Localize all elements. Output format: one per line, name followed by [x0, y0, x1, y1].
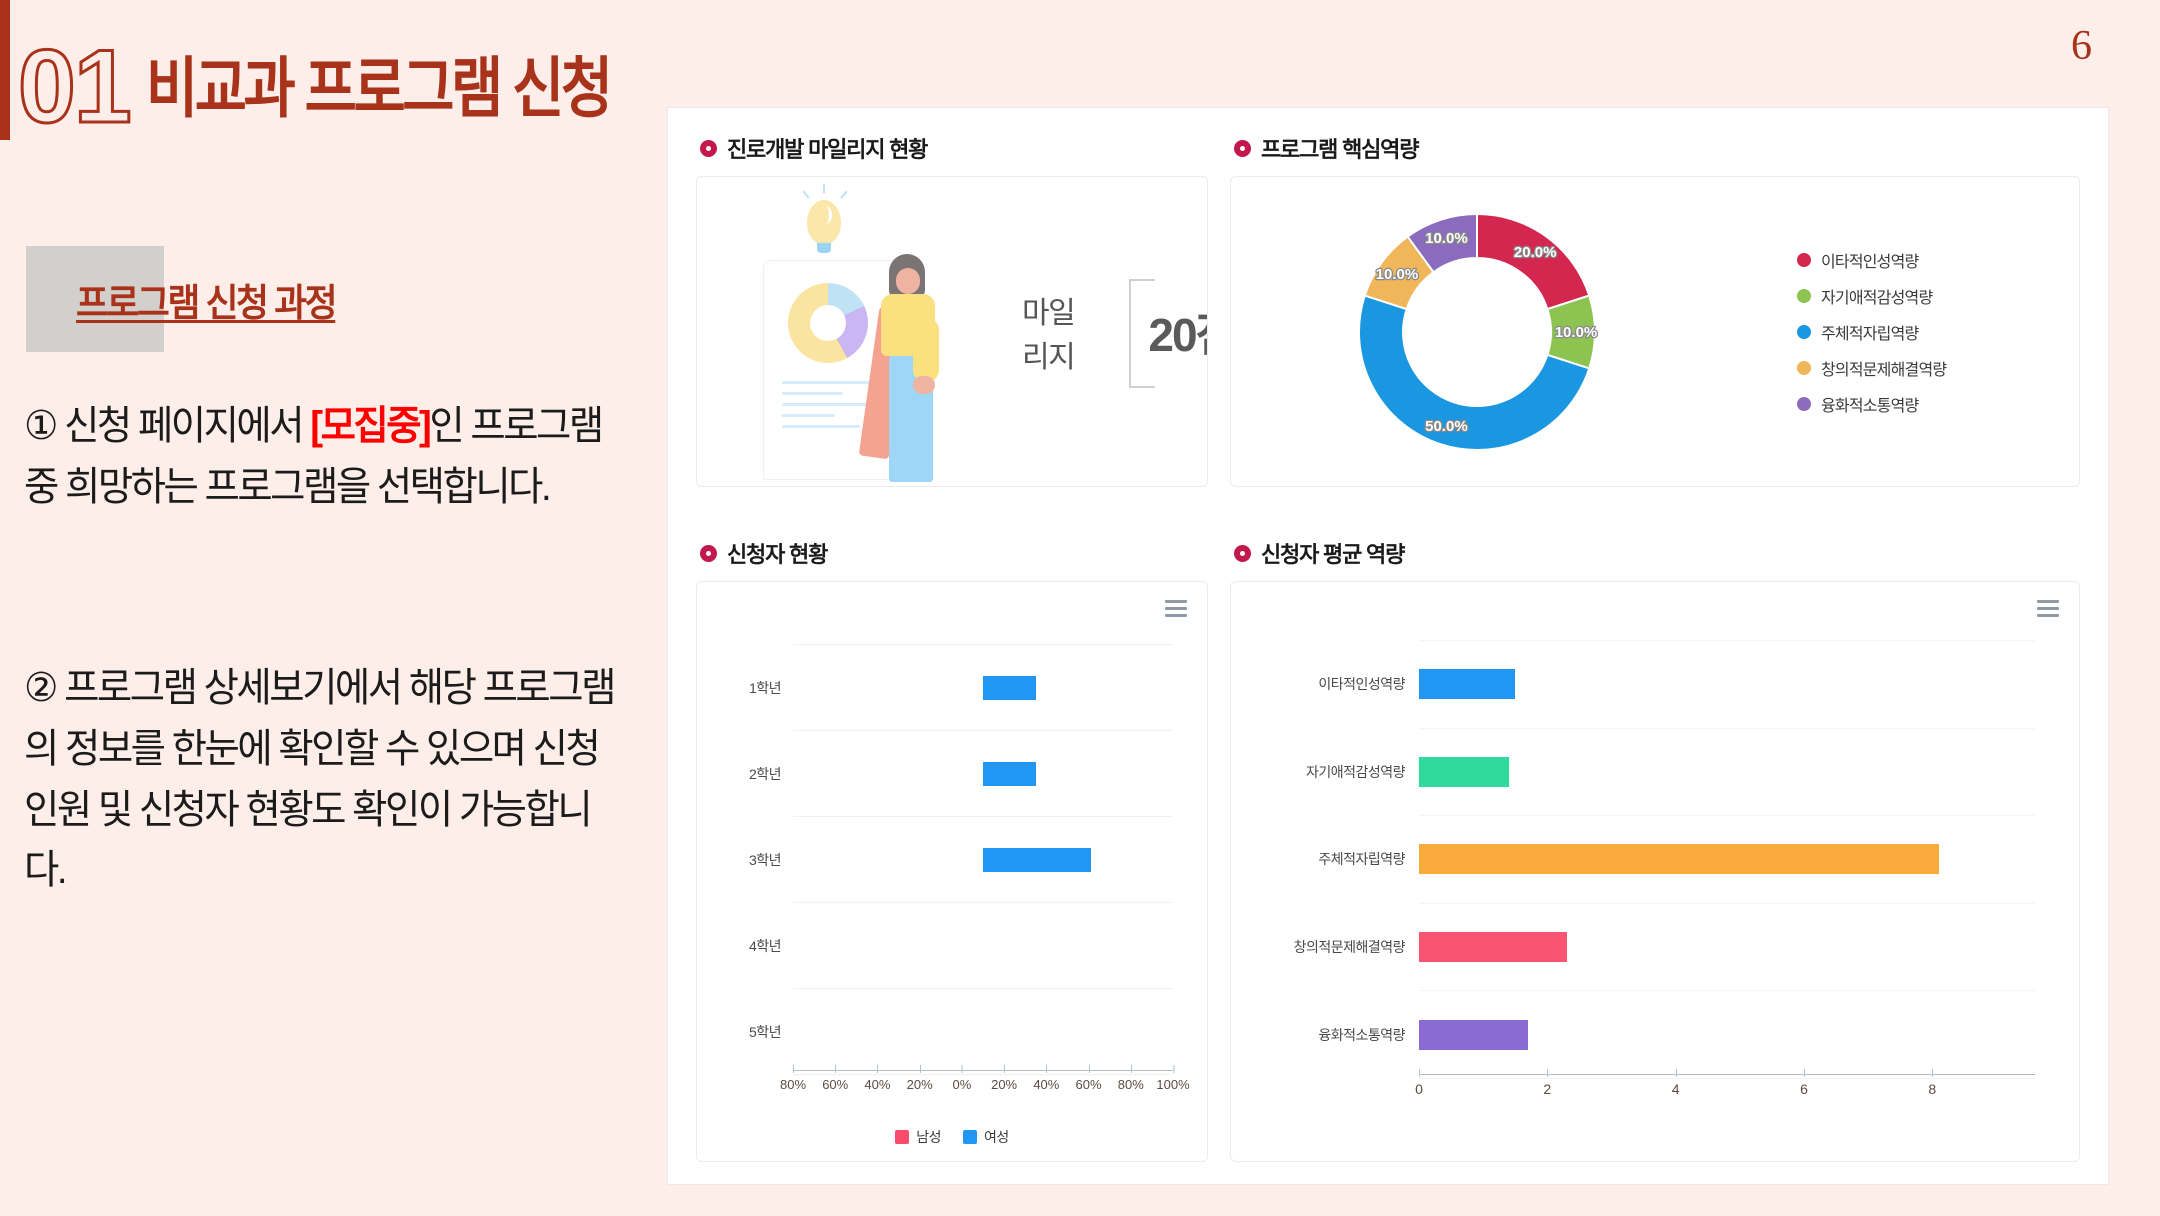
legend-item-label: 자기애적감성역량 — [1821, 284, 1932, 308]
record-dot-icon — [1234, 140, 1251, 157]
average-bar-2 — [1419, 844, 1939, 874]
average-y-label: 창의적문제해결역량 — [1294, 937, 1405, 957]
card-applicant-average-title: 신청자 평균 역량 — [1261, 537, 1404, 569]
card-applicant-status: 신청자 현황 1학년2학년3학년4학년5학년 80%60%40%20%0%20%… — [696, 537, 1208, 1162]
average-x-tick: 4 — [1672, 1081, 1680, 1097]
card-core-competency: 프로그램 핵심역량 20.0%10.0%50.0%10.0%10.0% 이타적인… — [1230, 132, 2080, 487]
tornado-bar-여성 — [983, 762, 1036, 786]
legend-item-2[interactable]: 주체적자립역량 — [1797, 320, 1946, 344]
tornado-legend-label: 남성 — [916, 1127, 941, 1147]
tornado-legend-item-1[interactable]: 여성 — [963, 1127, 1009, 1147]
dashboard-screenshot: 진로개발 마일리지 현황 — [668, 108, 2108, 1184]
card-mileage-title: 진로개발 마일리지 현황 — [727, 132, 927, 164]
average-row: 주체적자립역량 — [1419, 815, 2035, 903]
legend-item-label: 창의적문제해결역량 — [1821, 356, 1946, 380]
subheading-text: 프로그램 신청 과정 — [76, 272, 335, 327]
tornado-row: 1학년 — [793, 644, 1173, 730]
legend-color-dot-icon — [1797, 325, 1811, 339]
mileage-value-box: 20점 — [1129, 279, 1208, 384]
tornado-x-axis-ticks: 80%60%40%20%0%20%40%60%80%100% — [793, 1077, 1173, 1103]
average-bar-4 — [1419, 1020, 1528, 1050]
card-mileage: 진로개발 마일리지 현황 — [696, 132, 1208, 487]
page-number: 6 — [2071, 22, 2092, 70]
card-applicant-average-header: 신청자 평균 역량 — [1234, 537, 2080, 569]
card-mileage-header: 진로개발 마일리지 현황 — [700, 132, 1208, 164]
average-y-label: 자기애적감성역량 — [1306, 762, 1405, 782]
donut-chart-svg: 20.0%10.0%50.0%10.0%10.0% — [1327, 187, 1627, 477]
tornado-x-tick: 60% — [1076, 1077, 1102, 1092]
average-row: 이타적인성역량 — [1419, 640, 2035, 728]
record-dot-icon — [1234, 545, 1251, 562]
tornado-y-label: 1학년 — [749, 678, 781, 698]
tornado-row: 2학년 — [793, 730, 1173, 816]
donut-segment-label-1: 10.0% — [1555, 324, 1598, 341]
legend-color-dot-icon — [1797, 289, 1811, 303]
card-applicant-average-body: 이타적인성역량자기애적감성역량주체적자립역량창의적문제해결역량융화적소통역량 0… — [1230, 581, 2080, 1162]
donut-chart-legend: 이타적인성역량자기애적감성역량주체적자립역량창의적문제해결역량융화적소통역량 — [1797, 248, 1946, 416]
mileage-label: 마일리지 — [1022, 288, 1097, 376]
left-accent-bar — [0, 0, 10, 140]
card-mileage-body: 마일리지 20점 — [696, 176, 1208, 487]
donut-segment-label-2: 50.0% — [1425, 418, 1468, 435]
tornado-x-tick: 80% — [780, 1077, 806, 1092]
tornado-y-label: 2학년 — [749, 764, 781, 784]
mini-donut-graphic — [788, 283, 868, 363]
paragraph-step-1: ① 신청 페이지에서 [모집중]인 프로그램 중 희망하는 프로그램을 선택합니… — [24, 396, 629, 518]
tornado-x-tick: 40% — [1033, 1077, 1059, 1092]
card-core-competency-header: 프로그램 핵심역량 — [1234, 132, 2080, 164]
tornado-legend-item-0[interactable]: 남성 — [895, 1127, 941, 1147]
average-x-axis-line — [1419, 1074, 2035, 1075]
mileage-value: 20점 — [1148, 299, 1208, 365]
average-y-label: 이타적인성역량 — [1318, 674, 1405, 694]
legend-item-3[interactable]: 창의적문제해결역량 — [1797, 356, 1946, 380]
tornado-row: 3학년 — [793, 816, 1173, 902]
slide-heading: 01 비교과 프로그램 신청 — [18, 40, 685, 136]
section-number-text: 01 — [18, 40, 130, 136]
tornado-chart-legend: 남성여성 — [697, 1127, 1207, 1147]
average-x-tick: 0 — [1415, 1081, 1423, 1097]
legend-item-0[interactable]: 이타적인성역량 — [1797, 248, 1946, 272]
paragraph-1-part-a: ① 신청 페이지에서 — [24, 404, 310, 448]
subheading-block: 프로그램 신청 과정 — [26, 246, 646, 352]
average-row: 자기애적감성역량 — [1419, 728, 2035, 816]
average-competency-chart-plot: 이타적인성역량자기애적감성역량주체적자립역량창의적문제해결역량융화적소통역량 — [1419, 640, 2035, 1073]
page-title: 비교과 프로그램 신청 — [146, 55, 610, 121]
tornado-x-tick: 20% — [907, 1077, 933, 1092]
card-applicant-status-body: 1학년2학년3학년4학년5학년 80%60%40%20%0%20%40%60%8… — [696, 581, 1208, 1162]
donut-segment-label-3: 10.0% — [1376, 265, 1419, 282]
paragraph-step-2: ② 프로그램 상세보기에서 해당 프로그램의 정보를 한눈에 확인할 수 있으며… — [24, 658, 629, 901]
card-core-competency-body: 20.0%10.0%50.0%10.0%10.0% 이타적인성역량자기애적감성역… — [1230, 176, 2080, 487]
average-y-label: 융화적소통역량 — [1318, 1025, 1405, 1045]
tornado-y-label: 3학년 — [749, 850, 781, 870]
recruiting-badge-text: [모집중] — [310, 404, 429, 448]
card-applicant-average: 신청자 평균 역량 이타적인성역량자기애적감성역량주체적자립역량창의적문제해결역… — [1230, 537, 2080, 1162]
tornado-x-tick: 20% — [991, 1077, 1017, 1092]
legend-color-dot-icon — [1797, 253, 1811, 267]
average-bar-0 — [1419, 669, 1515, 699]
average-x-tick: 6 — [1800, 1081, 1808, 1097]
hamburger-menu-icon[interactable] — [2037, 600, 2059, 617]
tornado-row: 5학년 — [793, 988, 1173, 1075]
average-x-axis-ticks: 02468 — [1419, 1081, 2035, 1107]
average-bar-3 — [1419, 932, 1567, 962]
tornado-row: 4학년 — [793, 902, 1173, 988]
tornado-x-tick: 80% — [1118, 1077, 1144, 1092]
record-dot-icon — [700, 545, 717, 562]
tornado-x-tick: 40% — [864, 1077, 890, 1092]
average-y-label: 주체적자립역량 — [1318, 849, 1405, 869]
legend-item-label: 융화적소통역량 — [1821, 392, 1918, 416]
person-with-chart-illustration — [755, 182, 970, 482]
card-core-competency-title: 프로그램 핵심역량 — [1261, 132, 1418, 164]
legend-item-1[interactable]: 자기애적감성역량 — [1797, 284, 1946, 308]
tornado-legend-label: 여성 — [984, 1127, 1009, 1147]
donut-chart: 20.0%10.0%50.0%10.0%10.0% — [1327, 187, 1627, 477]
person-graphic — [863, 254, 953, 482]
legend-item-label: 이타적인성역량 — [1821, 248, 1918, 272]
tornado-bar-여성 — [983, 676, 1036, 700]
average-row: 창의적문제해결역량 — [1419, 903, 2035, 991]
tornado-y-label: 4학년 — [749, 936, 781, 956]
average-bar-1 — [1419, 757, 1509, 787]
legend-color-dot-icon — [1797, 397, 1811, 411]
legend-color-swatch-icon — [963, 1130, 977, 1144]
tornado-bar-여성 — [983, 848, 1091, 872]
tornado-x-axis-line — [793, 1070, 1173, 1071]
record-dot-icon — [700, 140, 717, 157]
tornado-chart-plot: 1학년2학년3학년4학년5학년 — [793, 644, 1173, 1069]
section-number: 01 — [18, 40, 130, 136]
legend-color-swatch-icon — [895, 1130, 909, 1144]
card-applicant-status-header: 신청자 현황 — [700, 537, 1208, 569]
average-row: 융화적소통역량 — [1419, 990, 2035, 1079]
legend-item-label: 주체적자립역량 — [1821, 320, 1918, 344]
donut-segment-label-4: 10.0% — [1425, 229, 1468, 246]
legend-item-4[interactable]: 융화적소통역량 — [1797, 392, 1946, 416]
tornado-x-tick: 0% — [952, 1077, 971, 1092]
tornado-x-tick: 60% — [822, 1077, 848, 1092]
tornado-x-tick: 100% — [1156, 1077, 1189, 1092]
legend-color-dot-icon — [1797, 361, 1811, 375]
average-x-tick: 2 — [1543, 1081, 1551, 1097]
average-x-tick: 8 — [1928, 1081, 1936, 1097]
tornado-y-label: 5학년 — [749, 1022, 781, 1042]
donut-segment-0 — [1477, 214, 1589, 309]
donut-segment-label-0: 20.0% — [1514, 243, 1557, 260]
hamburger-menu-icon[interactable] — [1165, 600, 1187, 617]
card-applicant-status-title: 신청자 현황 — [727, 537, 827, 569]
